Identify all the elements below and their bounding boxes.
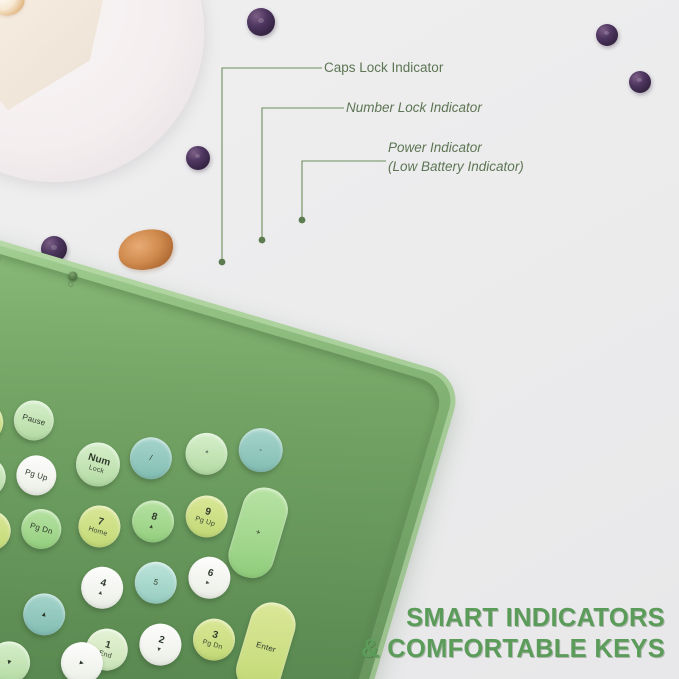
callout-label-caps-lock: Caps Lock Indicator	[324, 60, 443, 75]
key-label: -	[258, 446, 263, 455]
key-label: Enter	[255, 641, 277, 655]
key-home[interactable]: Home	[0, 452, 11, 502]
key-[interactable]: /	[125, 432, 177, 484]
blueberry	[629, 71, 651, 93]
key-pgdn[interactable]: Pg Dn	[16, 504, 66, 554]
key-5[interactable]: 5	[130, 557, 182, 609]
callout-label-num-lock: Number Lock Indicator	[346, 100, 482, 115]
callout-label-power-sub: (Low Battery Indicator)	[388, 159, 524, 174]
key-label: *	[204, 449, 210, 458]
key-enter[interactable]: Enter	[231, 597, 301, 679]
key-sublabel: ▸	[205, 579, 211, 587]
headline: SMART INDICATORS & COMFORTABLE KEYS	[361, 603, 665, 665]
key-sublabel: ▴	[149, 523, 155, 531]
blueberry	[186, 146, 210, 170]
key-label: Pg Up	[24, 468, 49, 483]
key-label: ▴	[41, 610, 47, 619]
key-2[interactable]: 2▾	[134, 619, 186, 671]
key-pgup[interactable]: Pg Up	[11, 451, 61, 501]
key-sublabel: Pg Up	[194, 515, 216, 528]
key-label: +	[255, 528, 262, 538]
blueberry	[247, 8, 275, 36]
key-scrlk[interactable]: Scr Lk	[0, 397, 8, 447]
key-[interactable]: ▴	[18, 588, 70, 640]
key-num[interactable]: NumLock	[71, 437, 126, 492]
key-[interactable]: +	[223, 482, 293, 583]
key-8[interactable]: 8▴	[127, 495, 179, 547]
key-sublabel: Home	[87, 525, 108, 538]
product-image-canvas: F11F12Prt ScScr LkPauseInsertHomePg UpDe…	[0, 0, 679, 679]
key-7[interactable]: 7Home	[73, 500, 125, 552]
callout-label-power: Power Indicator	[388, 140, 482, 155]
key-end[interactable]: End	[0, 506, 16, 556]
key-label: 5	[152, 578, 159, 588]
key-label: ▸	[79, 658, 85, 667]
blueberry	[596, 24, 618, 46]
key-pause[interactable]: Pause	[9, 396, 59, 446]
key-3[interactable]: 3Pg Dn	[188, 614, 240, 666]
headline-line-1: SMART INDICATORS	[361, 603, 665, 634]
key-label: Pause	[21, 413, 46, 428]
key-sublabel: ▾	[156, 646, 162, 654]
key-[interactable]: -	[233, 423, 288, 478]
key-4[interactable]: 4▴	[76, 562, 128, 614]
key-[interactable]: ▾	[0, 636, 35, 679]
key-label: ▾	[6, 658, 12, 667]
key-grid: F11F12Prt ScScr LkPauseInsertHomePg UpDe…	[0, 212, 446, 386]
key-label: /	[149, 454, 154, 463]
key-[interactable]: *	[180, 428, 232, 480]
key-sublabel: ▴	[98, 589, 104, 597]
key-sublabel: Pg Dn	[202, 638, 224, 651]
key-9[interactable]: 9Pg Up	[181, 490, 233, 542]
headline-line-2: & COMFORTABLE KEYS	[361, 634, 665, 665]
key-label: Pg Dn	[29, 522, 54, 537]
